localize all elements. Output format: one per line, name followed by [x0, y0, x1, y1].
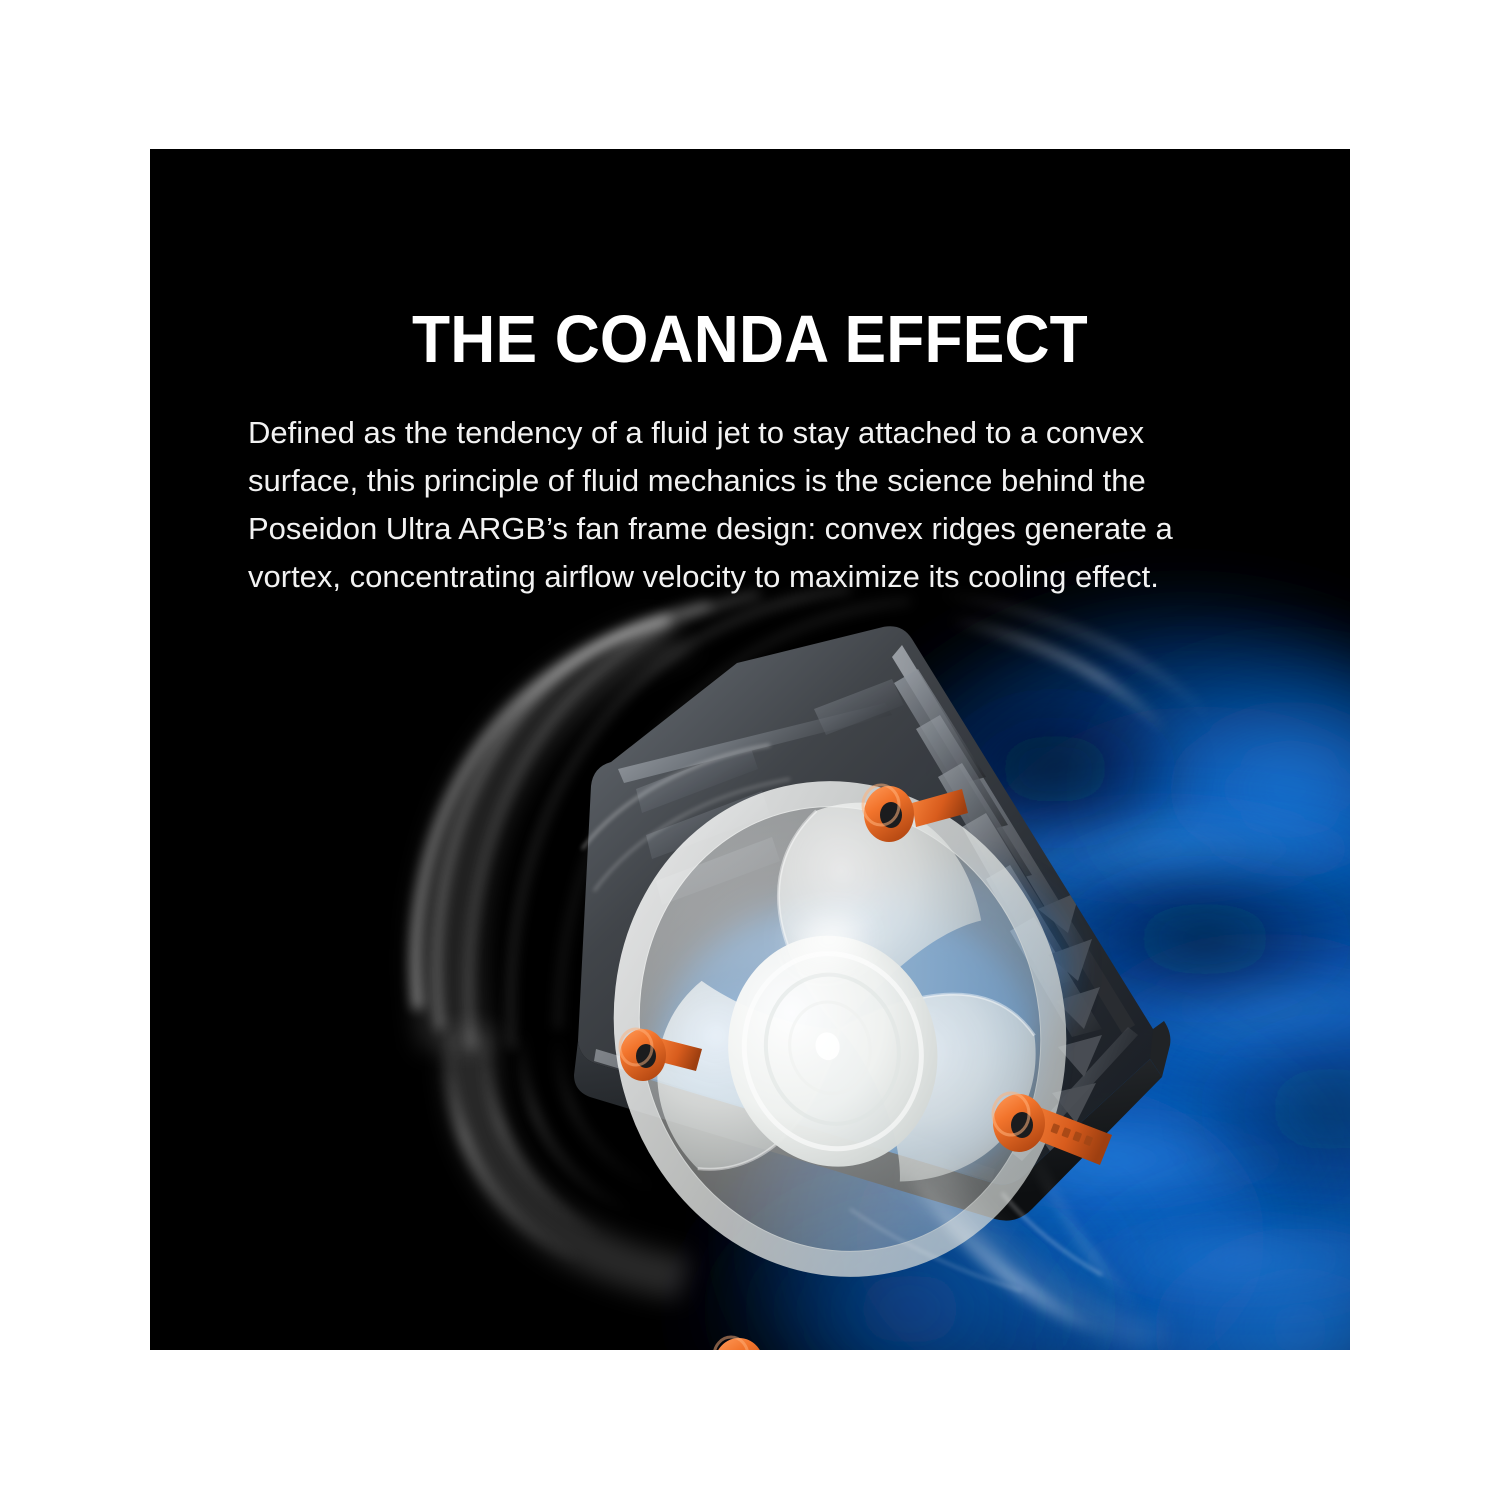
body-line-2: surface, this principle of fluid mechani… [248, 457, 1254, 505]
body-line-3: Poseidon Ultra ARGB’s fan frame design: … [248, 505, 1254, 553]
body-paragraph: Defined as the tendency of a fluid jet t… [248, 409, 1254, 601]
hero-panel: THE COANDA EFFECT Defined as the tendenc… [150, 149, 1350, 1350]
body-line-1: Defined as the tendency of a fluid jet t… [248, 409, 1254, 457]
page-root: THE COANDA EFFECT Defined as the tendenc… [0, 0, 1500, 1500]
body-line-4: vortex, concentrating airflow velocity t… [248, 553, 1254, 601]
page-title: THE COANDA EFFECT [192, 306, 1308, 373]
